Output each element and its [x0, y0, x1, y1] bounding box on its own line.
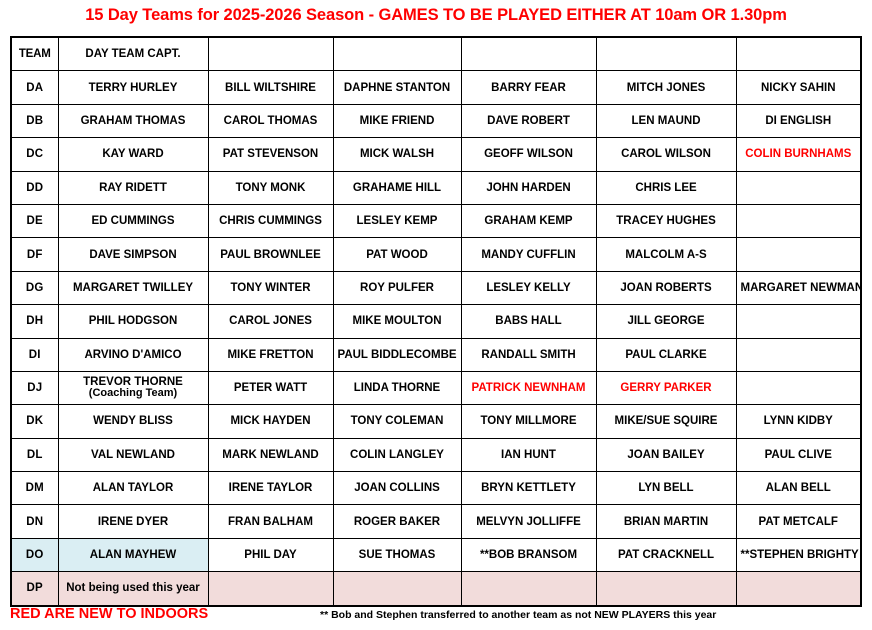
player-cell: TRACEY HUGHES — [596, 204, 736, 237]
player-cell: TONY WINTER — [208, 271, 333, 304]
table-row: DPNot being used this year — [11, 572, 861, 606]
player-cell: MITCH JONES — [596, 71, 736, 104]
player-cell: MELVYN JOLLIFFE — [461, 505, 596, 538]
player-cell: TONY MILLMORE — [461, 405, 596, 438]
day-teams-table: TEAM DAY TEAM CAPT. DATERRY HURLEYBILL W… — [10, 36, 862, 607]
captain-cell: GRAHAM THOMAS — [58, 104, 208, 137]
player-cell: MIKE MOULTON — [333, 305, 461, 338]
player-cell: NICKY SAHIN — [736, 71, 861, 104]
player-cell: CHRIS LEE — [596, 171, 736, 204]
player-cell: TONY COLEMAN — [333, 405, 461, 438]
player-cell: PAT METCALF — [736, 505, 861, 538]
table-header-row: TEAM DAY TEAM CAPT. — [11, 37, 861, 71]
captain-cell: WENDY BLISS — [58, 405, 208, 438]
player-cell: LESLEY KEMP — [333, 204, 461, 237]
captain-cell: MARGARET TWILLEY — [58, 271, 208, 304]
player-cell: MALCOLM A-S — [596, 238, 736, 271]
player-cell: LYN BELL — [596, 472, 736, 505]
player-cell: PHIL DAY — [208, 538, 333, 571]
team-code-cell: DN — [11, 505, 58, 538]
team-code-cell: DJ — [11, 371, 58, 404]
player-cell: BABS HALL — [461, 305, 596, 338]
table-row: DOALAN MAYHEWPHIL DAYSUE THOMAS**BOB BRA… — [11, 538, 861, 571]
player-cell — [333, 572, 461, 606]
player-cell — [736, 171, 861, 204]
player-cell: JOAN ROBERTS — [596, 271, 736, 304]
team-code-cell: DA — [11, 71, 58, 104]
player-cell: PAT WOOD — [333, 238, 461, 271]
player-cell: LESLEY KELLY — [461, 271, 596, 304]
team-code-cell: DH — [11, 305, 58, 338]
header-player3 — [461, 37, 596, 71]
team-code-cell: DI — [11, 338, 58, 371]
player-cell: COLIN BURNHAMS — [736, 138, 861, 171]
player-cell: CHRIS CUMMINGS — [208, 204, 333, 237]
captain-cell: RAY RIDETT — [58, 171, 208, 204]
player-cell: MICK WALSH — [333, 138, 461, 171]
player-cell: LINDA THORNE — [333, 371, 461, 404]
team-code-cell: DM — [11, 472, 58, 505]
captain-note: (Coaching Team) — [63, 388, 204, 400]
header-captain: DAY TEAM CAPT. — [58, 37, 208, 71]
team-code-cell: DE — [11, 204, 58, 237]
player-cell: CAROL JONES — [208, 305, 333, 338]
team-code-cell: DD — [11, 171, 58, 204]
player-cell: PAUL CLIVE — [736, 438, 861, 471]
player-cell — [596, 572, 736, 606]
captain-cell: Not being used this year — [58, 572, 208, 606]
captain-cell: TERRY HURLEY — [58, 71, 208, 104]
captain-cell: ED CUMMINGS — [58, 204, 208, 237]
player-cell: JOAN COLLINS — [333, 472, 461, 505]
table-row: DHPHIL HODGSONCAROL JONESMIKE MOULTONBAB… — [11, 305, 861, 338]
captain-cell: IRENE DYER — [58, 505, 208, 538]
player-cell: MIKE/SUE SQUIRE — [596, 405, 736, 438]
table-row: DNIRENE DYERFRAN BALHAMROGER BAKERMELVYN… — [11, 505, 861, 538]
player-cell — [736, 572, 861, 606]
team-code-cell: DG — [11, 271, 58, 304]
captain-cell: ALAN TAYLOR — [58, 472, 208, 505]
player-cell — [736, 204, 861, 237]
captain-cell: VAL NEWLAND — [58, 438, 208, 471]
player-cell: TONY MONK — [208, 171, 333, 204]
player-cell: PAUL BROWNLEE — [208, 238, 333, 271]
player-cell: MIKE FRETTON — [208, 338, 333, 371]
player-cell — [736, 238, 861, 271]
player-cell: ROGER BAKER — [333, 505, 461, 538]
header-player4 — [596, 37, 736, 71]
table-row: DIARVINO D'AMICOMIKE FRETTONPAUL BIDDLEC… — [11, 338, 861, 371]
player-cell: JOHN HARDEN — [461, 171, 596, 204]
player-cell: PAUL BIDDLECOMBE — [333, 338, 461, 371]
player-cell: GRAHAM KEMP — [461, 204, 596, 237]
team-code-cell: DL — [11, 438, 58, 471]
player-cell: PATRICK NEWNHAM — [461, 371, 596, 404]
player-cell: DAPHNE STANTON — [333, 71, 461, 104]
table-row: DBGRAHAM THOMASCAROL THOMASMIKE FRIENDDA… — [11, 104, 861, 137]
player-cell: DAVE ROBERT — [461, 104, 596, 137]
player-cell — [736, 371, 861, 404]
player-cell: LEN MAUND — [596, 104, 736, 137]
player-cell: **STEPHEN BRIGHTY — [736, 538, 861, 571]
header-team: TEAM — [11, 37, 58, 71]
player-cell: COLIN LANGLEY — [333, 438, 461, 471]
player-cell: CAROL THOMAS — [208, 104, 333, 137]
table-row: DEED CUMMINGSCHRIS CUMMINGSLESLEY KEMPGR… — [11, 204, 861, 237]
player-cell: MANDY CUFFLIN — [461, 238, 596, 271]
player-cell: MARK NEWLAND — [208, 438, 333, 471]
player-cell: BRIAN MARTIN — [596, 505, 736, 538]
table-row: DCKAY WARDPAT STEVENSONMICK WALSHGEOFF W… — [11, 138, 861, 171]
captain-cell: ALAN MAYHEW — [58, 538, 208, 571]
team-code-cell: DK — [11, 405, 58, 438]
captain-cell: TREVOR THORNE(Coaching Team) — [58, 371, 208, 404]
player-cell: GEOFF WILSON — [461, 138, 596, 171]
player-cell: BILL WILTSHIRE — [208, 71, 333, 104]
player-cell: PAT STEVENSON — [208, 138, 333, 171]
legend-red-new-to-indoors: RED ARE NEW TO INDOORS — [10, 606, 208, 622]
player-cell: JOAN BAILEY — [596, 438, 736, 471]
table-row: DGMARGARET TWILLEYTONY WINTERROY PULFERL… — [11, 271, 861, 304]
table-row: DLVAL NEWLANDMARK NEWLANDCOLIN LANGLEYIA… — [11, 438, 861, 471]
table-row: DFDAVE SIMPSONPAUL BROWNLEEPAT WOODMANDY… — [11, 238, 861, 271]
team-code-cell: DB — [11, 104, 58, 137]
header-player1 — [208, 37, 333, 71]
player-cell — [208, 572, 333, 606]
player-cell: ALAN BELL — [736, 472, 861, 505]
player-cell: SUE THOMAS — [333, 538, 461, 571]
player-cell — [736, 338, 861, 371]
player-cell: PAUL CLARKE — [596, 338, 736, 371]
table-row: DMALAN TAYLORIRENE TAYLORJOAN COLLINSBRY… — [11, 472, 861, 505]
team-code-cell: DO — [11, 538, 58, 571]
player-cell: **BOB BRANSOM — [461, 538, 596, 571]
page-title: 15 Day Teams for 2025-2026 Season - GAME… — [0, 6, 872, 25]
player-cell: BARRY FEAR — [461, 71, 596, 104]
player-cell: MIKE FRIEND — [333, 104, 461, 137]
player-cell: PAT CRACKNELL — [596, 538, 736, 571]
table-row: DDRAY RIDETTTONY MONKGRAHAME HILLJOHN HA… — [11, 171, 861, 204]
header-player5 — [736, 37, 861, 71]
player-cell: FRAN BALHAM — [208, 505, 333, 538]
player-cell: DI ENGLISH — [736, 104, 861, 137]
player-cell: CAROL WILSON — [596, 138, 736, 171]
player-cell — [736, 305, 861, 338]
player-cell: BRYN KETTLETY — [461, 472, 596, 505]
player-cell: MICK HAYDEN — [208, 405, 333, 438]
header-player2 — [333, 37, 461, 71]
player-cell: GERRY PARKER — [596, 371, 736, 404]
captain-cell: KAY WARD — [58, 138, 208, 171]
player-cell: IRENE TAYLOR — [208, 472, 333, 505]
team-code-cell: DP — [11, 572, 58, 606]
player-cell: LYNN KIDBY — [736, 405, 861, 438]
player-cell: PETER WATT — [208, 371, 333, 404]
table-row: DATERRY HURLEYBILL WILTSHIREDAPHNE STANT… — [11, 71, 861, 104]
captain-cell: PHIL HODGSON — [58, 305, 208, 338]
player-cell: MARGARET NEWMAN — [736, 271, 861, 304]
player-cell: GRAHAME HILL — [333, 171, 461, 204]
team-code-cell: DC — [11, 138, 58, 171]
player-cell: IAN HUNT — [461, 438, 596, 471]
captain-cell: DAVE SIMPSON — [58, 238, 208, 271]
team-code-cell: DF — [11, 238, 58, 271]
player-cell: ROY PULFER — [333, 271, 461, 304]
player-cell — [461, 572, 596, 606]
table-row: DKWENDY BLISSMICK HAYDENTONY COLEMANTONY… — [11, 405, 861, 438]
player-cell: JILL GEORGE — [596, 305, 736, 338]
player-cell: RANDALL SMITH — [461, 338, 596, 371]
table-row: DJTREVOR THORNE(Coaching Team)PETER WATT… — [11, 371, 861, 404]
captain-cell: ARVINO D'AMICO — [58, 338, 208, 371]
footnote-transferred-players: ** Bob and Stephen transferred to anothe… — [320, 609, 716, 621]
